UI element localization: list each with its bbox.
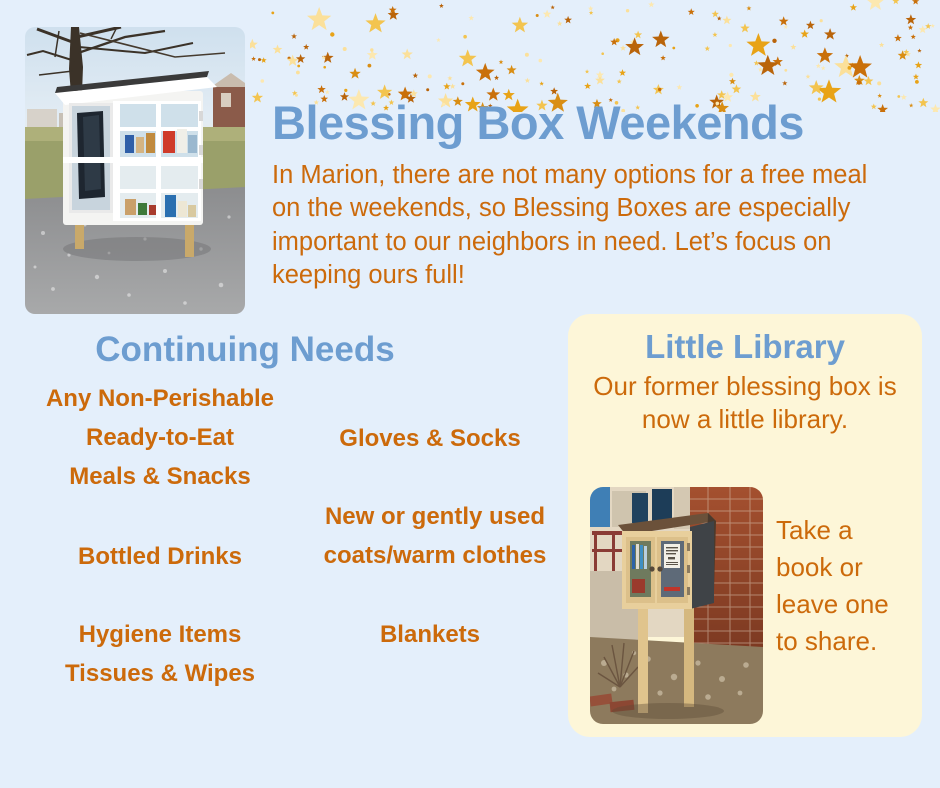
need-line: New or gently used (290, 498, 580, 537)
need-line: Bottled Drinks (10, 538, 310, 577)
need-line: coats/warm clothes (290, 537, 580, 576)
need-line: Gloves & Socks (300, 420, 560, 459)
need-line: Any Non-Perishable (0, 380, 320, 419)
need-item-hygiene: Hygiene Items Tissues & Wipes (10, 616, 310, 694)
little-library-heading: Little Library (568, 328, 922, 366)
need-line: Tissues & Wipes (10, 655, 310, 694)
continuing-needs-heading: Continuing Needs (10, 330, 480, 370)
need-line: Meals & Snacks (0, 458, 320, 497)
little-library-photo (590, 487, 763, 724)
continuing-needs-section: Continuing Needs Any Non-Perishable Read… (0, 330, 560, 760)
page-title: Blessing Box Weekends (272, 98, 920, 147)
need-line: Ready-to-Eat (0, 419, 320, 458)
blessing-box-photo (25, 27, 245, 314)
need-item-food: Any Non-Perishable Ready-to-Eat Meals & … (0, 380, 320, 497)
poster-canvas: Blessing Box Weekends In Marion, there a… (0, 0, 940, 788)
need-line: Hygiene Items (10, 616, 310, 655)
need-item-coats: New or gently used coats/warm clothes (290, 498, 580, 576)
little-library-card: Little Library Our former blessing box i… (568, 314, 922, 737)
need-item-drinks: Bottled Drinks (10, 538, 310, 577)
needs-grid: Any Non-Perishable Ready-to-Eat Meals & … (0, 380, 560, 760)
need-line: Blankets (300, 616, 560, 655)
need-item-blankets: Blankets (300, 616, 560, 655)
need-item-gloves: Gloves & Socks (300, 420, 560, 459)
little-library-intro: Our former blessing box is now a little … (568, 370, 922, 437)
little-library-cta: Take a book or leave one to share. (776, 512, 906, 660)
header-block: Blessing Box Weekends In Marion, there a… (272, 98, 920, 292)
page-subtitle: In Marion, there are not many options fo… (272, 159, 892, 292)
